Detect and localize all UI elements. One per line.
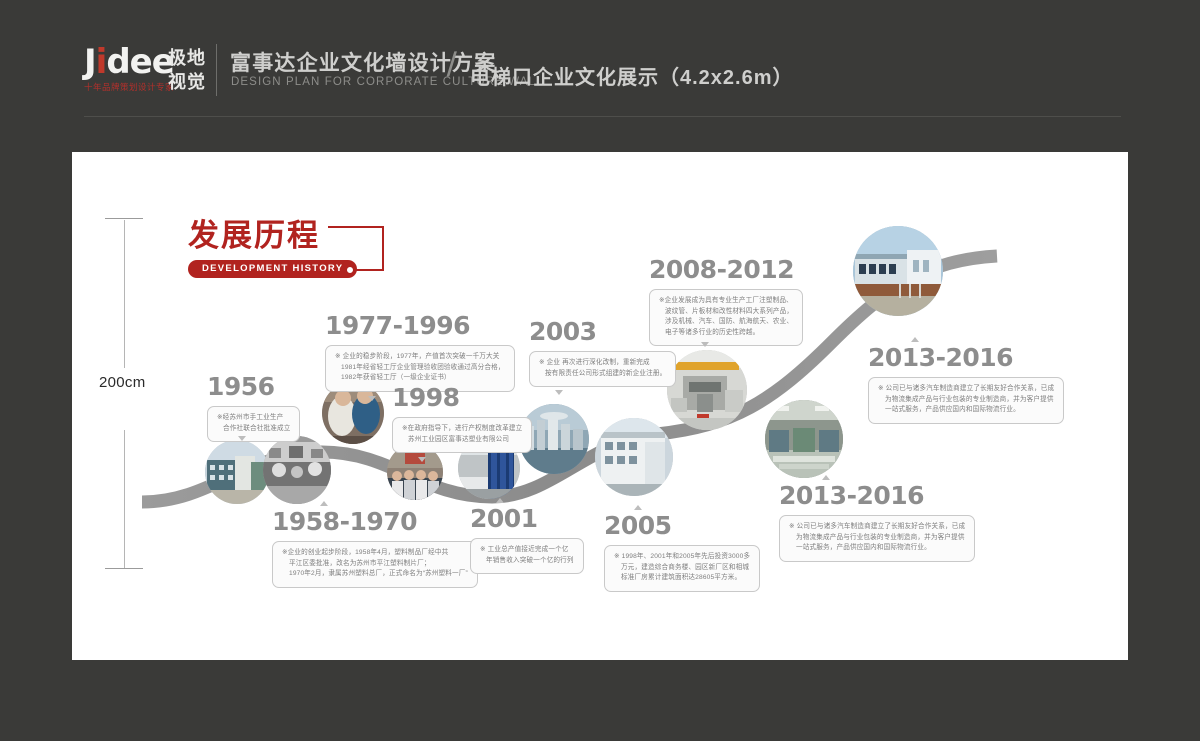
entry-line: 一站式服务，产品供应国内和国际物流行业。 <box>878 405 1054 416</box>
photo-white-plant <box>595 418 673 496</box>
photo-gate <box>853 226 943 316</box>
timeline-entry-year: 1958-1970 <box>272 508 478 536</box>
entry-line: 1970年2月，隶属苏州塑料总厂，正式命名为“苏州塑料一厂” <box>282 569 468 580</box>
timeline-entry-year: 2001 <box>470 505 584 533</box>
entry-line: 万元，建造综合商务楼、园区新厂区和相城 <box>614 563 750 574</box>
entry-line: ※ 工业总产值接近完成一个亿 <box>480 545 574 556</box>
photo-factory-1956 <box>205 440 269 504</box>
section-title-block: 发展历程 DEVELOPMENT HISTORY <box>188 218 357 278</box>
measurement-cap-bottom <box>105 568 143 569</box>
logo-chinese-name: 极地视觉 <box>168 46 206 94</box>
timeline-entry-2001: 2001 ※ 工业总产值接近完成一个亿 年销售收入突破一个亿的行列 <box>470 505 584 574</box>
entry-line: ※ 1998年、2001年和2005年先后投资3000多 <box>614 552 750 563</box>
entry-line: 平江区委批准，改名为苏州市平江塑料制片厂； <box>282 559 468 570</box>
timeline-entry-1998: 1998 ※在政府指导下，进行产权制度改革建立 苏州工业园区富事达塑业有限公司 <box>392 384 532 453</box>
entry-line: 年销售收入突破一个亿的行列 <box>480 556 574 567</box>
timeline-entry-year: 2013-2016 <box>779 482 975 510</box>
entry-line: ※企业发展成为具有专业生产工厂注塑制品、 <box>659 296 793 307</box>
timeline-entry-year: 2008-2012 <box>649 256 803 284</box>
entry-line: ※ 企业的稳步阶段，1977年，产值首次突破一千万大关 <box>335 352 505 363</box>
measurement-line-lower <box>124 430 125 568</box>
entry-line: 为物流集成产品与行业包装的专业制造商，并为客户提供 <box>789 533 965 544</box>
timeline-entry-text: ※ 工业总产值接近完成一个亿 年销售收入突破一个亿的行列 <box>470 538 584 574</box>
timeline-entry-year: 2005 <box>604 512 760 540</box>
entry-pointer-icon <box>238 436 246 441</box>
entry-pointer-icon <box>555 390 563 395</box>
entry-line: ※ 公司已与诸多汽车制造商建立了长期友好合作关系，已成 <box>789 522 965 533</box>
page-header: Jidee 十年品牌策划设计专家 极地视觉 富事达企业文化墙设计方案 DESIG… <box>0 0 1200 128</box>
timeline-entry-text: ※ 公司已与诸多汽车制造商建立了长期友好合作关系，已成 为物流集成产品与行业包装… <box>779 515 975 562</box>
entry-line: ※企业的创业起步阶段，1958年4月，塑料制品厂经中共 <box>282 548 468 559</box>
timeline-entry-year: 2013-2016 <box>868 344 1064 372</box>
measurement-label: 200cm <box>99 374 146 391</box>
entry-pointer-icon <box>701 342 709 347</box>
timeline-entry-2013-2016-upper: 2013-2016 ※ 公司已与诸多汽车制造商建立了长期友好合作关系，已成 为物… <box>868 344 1064 424</box>
timeline-entry-text: ※经苏州市手工业生产 合作社联合社批准成立 <box>207 406 300 442</box>
entry-line: 1982年获省轻工厅（一级企业证书） <box>335 373 505 384</box>
timeline-entry-text: ※ 1998年、2001年和2005年先后投资3000多 万元，建造综合商务楼、… <box>604 545 760 592</box>
screenshot-root: Jidee 十年品牌策划设计专家 极地视觉 富事达企业文化墙设计方案 DESIG… <box>0 0 1200 741</box>
entry-line: 1981年经省轻工厅企业管理验收团验收通过高分合格， <box>335 363 505 374</box>
entry-pointer-icon <box>822 475 830 480</box>
timeline-entry-1958-1970: 1958-1970 ※企业的创业起步阶段，1958年4月，塑料制品厂经中共 平江… <box>272 508 478 588</box>
photo-workshop <box>765 400 843 478</box>
entry-line: 为物流集成产品与行业包装的专业制造商，并为客户提供 <box>878 395 1054 406</box>
entry-line: 苏州工业园区富事达塑业有限公司 <box>402 435 522 446</box>
entry-line: 合作社联合社批准成立 <box>217 424 290 435</box>
timeline-entry-1977-1996: 1977-1996 ※ 企业的稳步阶段，1977年，产值首次突破一千万大关 19… <box>325 312 515 392</box>
entry-line: 涉及机械、汽车、国防、航海航天、农业、 <box>659 317 793 328</box>
entry-line: 按有限责任公司形式组建的新企业注册。 <box>539 369 666 380</box>
measurement-line-upper <box>124 220 125 368</box>
entry-line: 电子等诸多行业的历史性跨越。 <box>659 328 793 339</box>
entry-pointer-icon <box>320 501 328 506</box>
timeline-entry-year: 1977-1996 <box>325 312 515 340</box>
entry-line: ※经苏州市手工业生产 <box>217 413 290 424</box>
timeline-entry-text: ※在政府指导下，进行产权制度改革建立 苏州工业园区富事达塑业有限公司 <box>392 417 532 453</box>
entry-pointer-icon <box>496 498 504 503</box>
photo-workers-bw <box>263 436 331 504</box>
header-slash-separator: / <box>446 46 457 85</box>
entry-line: 标准厂房累计建筑面积达28605平方米。 <box>614 573 750 584</box>
timeline-entry-text: ※ 公司已与诸多汽车制造商建立了长期友好合作关系，已成 为物流集成产品与行业包装… <box>868 377 1064 424</box>
measurement-cap-top <box>105 218 143 219</box>
entry-line: ※在政府指导下，进行产权制度改革建立 <box>402 424 522 435</box>
entry-line: 一站式服务，产品供应国内和国际物流行业。 <box>789 543 965 554</box>
entry-pointer-icon <box>634 505 642 510</box>
photo-machine <box>667 350 747 430</box>
title-hook-dot <box>346 266 354 274</box>
timeline-entry-2008-2012: 2008-2012 ※企业发展成为具有专业生产工厂注塑制品、 波纹管、片板材和改… <box>649 256 803 346</box>
timeline-entry-text: ※企业发展成为具有专业生产工厂注塑制品、 波纹管、片板材和改性材料四大系列产品，… <box>649 289 803 346</box>
entry-line: ※ 公司已与诸多汽车制造商建立了长期友好合作关系，已成 <box>878 384 1054 395</box>
header-divider <box>216 44 217 96</box>
entry-pointer-icon <box>911 337 919 342</box>
timeline-entry-2005: 2005 ※ 1998年、2001年和2005年先后投资3000多 万元，建造综… <box>604 512 760 592</box>
timeline-entry-year: 1998 <box>392 384 532 412</box>
title-hook-decoration <box>328 226 384 276</box>
timeline-entry-year: 1956 <box>207 373 300 401</box>
entry-line: 波纹管、片板材和改性材料四大系列产品， <box>659 307 793 318</box>
timeline-entry-2013-2016-lower: 2013-2016 ※ 公司已与诸多汽车制造商建立了长期友好合作关系，已成 为物… <box>779 482 975 562</box>
timeline-entry-text: ※ 企业 再次进行深化改制，重新完成 按有限责任公司形式组建的新企业注册。 <box>529 351 676 387</box>
header-rule <box>84 116 1121 117</box>
entry-pointer-icon <box>418 457 426 462</box>
header-subtitle: 电梯口企业文化展示（4.2x2.6m） <box>470 61 794 90</box>
timeline-entry-1956: 1956 ※经苏州市手工业生产 合作社联合社批准成立 <box>207 373 300 442</box>
entry-line: ※ 企业 再次进行深化改制，重新完成 <box>539 358 666 369</box>
entry-pointer-icon <box>368 396 376 401</box>
timeline-entry-text: ※企业的创业起步阶段，1958年4月，塑料制品厂经中共 平江区委批准，改名为苏州… <box>272 541 478 588</box>
